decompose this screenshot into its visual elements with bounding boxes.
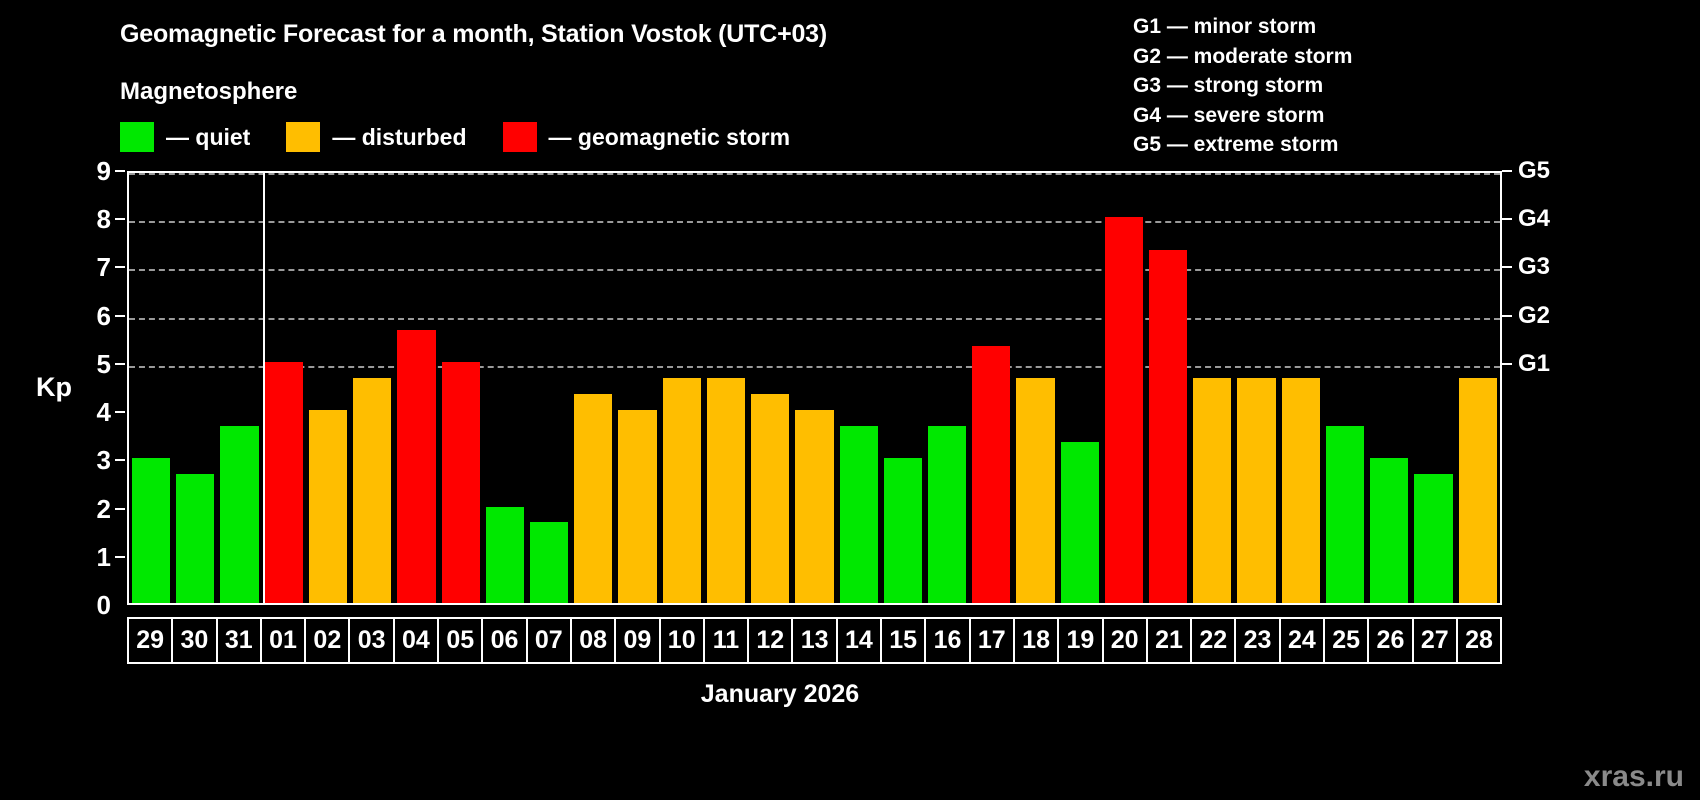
bar-slot-15[interactable]	[881, 173, 925, 603]
bar-19[interactable]	[1061, 442, 1099, 603]
day-label-28[interactable]: 28	[1458, 619, 1500, 662]
bar-06[interactable]	[486, 507, 524, 603]
bar-20[interactable]	[1105, 217, 1143, 603]
y-tick-label-6: 6	[97, 303, 111, 329]
bar-08[interactable]	[574, 394, 612, 603]
legend-swatch-storm	[503, 122, 537, 152]
bar-slot-05[interactable]	[439, 173, 483, 603]
day-label-22[interactable]: 22	[1192, 619, 1236, 662]
g-tick-label-G4: G4	[1518, 207, 1550, 231]
bar-09[interactable]	[618, 410, 656, 603]
day-label-03[interactable]: 03	[350, 619, 394, 662]
g-scale-row-2: G2 — moderate storm	[1133, 42, 1352, 72]
day-label-15[interactable]: 15	[882, 619, 926, 662]
y-tick-mark-2	[115, 508, 125, 510]
bar-12[interactable]	[751, 394, 789, 603]
bar-slot-27[interactable]	[1411, 173, 1455, 603]
day-label-16[interactable]: 16	[926, 619, 970, 662]
bar-17[interactable]	[972, 346, 1010, 603]
g-tick-label-G3: G3	[1518, 255, 1550, 279]
bar-slot-03[interactable]	[350, 173, 394, 603]
bar-slot-18[interactable]	[1013, 173, 1057, 603]
y-axis-title: Kp	[36, 372, 72, 403]
x-axis-day-labels: 2930310102030405060708091011121314151617…	[127, 617, 1502, 664]
g-scale-row-1: G1 — minor storm	[1133, 12, 1352, 42]
day-label-23[interactable]: 23	[1236, 619, 1280, 662]
day-label-21[interactable]: 21	[1148, 619, 1192, 662]
bar-02[interactable]	[309, 410, 347, 603]
bar-slot-06[interactable]	[483, 173, 527, 603]
magnetosphere-label: Magnetosphere	[120, 78, 297, 106]
legend-entry-storm: — geomagnetic storm	[503, 122, 827, 152]
day-label-17[interactable]: 17	[971, 619, 1015, 662]
bar-26[interactable]	[1370, 458, 1408, 603]
day-label-19[interactable]: 19	[1059, 619, 1103, 662]
legend-entry-disturbed: — disturbed	[286, 122, 502, 152]
bar-15[interactable]	[884, 458, 922, 603]
g-tick-mark-G1	[1502, 363, 1512, 365]
bar-29[interactable]	[132, 458, 170, 603]
bar-slot-12[interactable]	[748, 173, 792, 603]
bar-series	[129, 173, 1500, 603]
legend-swatch-disturbed	[286, 122, 320, 152]
day-label-27[interactable]: 27	[1414, 619, 1458, 662]
bar-slot-14[interactable]	[837, 173, 881, 603]
day-label-08[interactable]: 08	[572, 619, 616, 662]
day-label-05[interactable]: 05	[439, 619, 483, 662]
bar-slot-30[interactable]	[173, 173, 217, 603]
day-label-25[interactable]: 25	[1325, 619, 1369, 662]
legend-swatch-quiet	[120, 122, 154, 152]
g-tick-mark-G4	[1502, 218, 1512, 220]
y-tick-mark-5	[115, 363, 125, 365]
bar-30[interactable]	[176, 474, 214, 603]
day-label-07[interactable]: 07	[528, 619, 572, 662]
day-label-01[interactable]: 01	[262, 619, 306, 662]
bar-10[interactable]	[663, 378, 701, 603]
bar-13[interactable]	[795, 410, 833, 603]
y-tick-mark-9	[115, 170, 125, 172]
bar-07[interactable]	[530, 522, 568, 603]
bar-slot-11[interactable]	[704, 173, 748, 603]
y-tick-label-2: 2	[97, 496, 111, 522]
page-title: Geomagnetic Forecast for a month, Statio…	[120, 20, 827, 49]
bar-slot-02[interactable]	[306, 173, 350, 603]
day-label-14[interactable]: 14	[838, 619, 882, 662]
bar-slot-24[interactable]	[1279, 173, 1323, 603]
g-scale-row-5: G5 — extreme storm	[1133, 130, 1352, 160]
day-label-18[interactable]: 18	[1015, 619, 1059, 662]
bar-slot-08[interactable]	[571, 173, 615, 603]
y-tick-label-5: 5	[97, 351, 111, 377]
y-tick-label-3: 3	[97, 447, 111, 473]
y-tick-label-9: 9	[97, 158, 111, 184]
day-label-04[interactable]: 04	[395, 619, 439, 662]
bar-slot-22[interactable]	[1190, 173, 1234, 603]
bar-11[interactable]	[707, 378, 745, 603]
bar-slot-10[interactable]	[660, 173, 704, 603]
y-tick-mark-4	[115, 411, 125, 413]
day-label-29[interactable]: 29	[129, 619, 173, 662]
bar-slot-31[interactable]	[217, 173, 261, 603]
day-label-13[interactable]: 13	[793, 619, 837, 662]
legend-label-storm: — geomagnetic storm	[549, 124, 791, 151]
day-label-12[interactable]: 12	[749, 619, 793, 662]
bar-05[interactable]	[442, 362, 480, 603]
legend-label-quiet: — quiet	[166, 124, 250, 151]
y-tick-mark-3	[115, 459, 125, 461]
g-scale-legend: G1 — minor stormG2 — moderate stormG3 — …	[1133, 12, 1352, 160]
bar-21[interactable]	[1149, 250, 1187, 603]
bar-slot-19[interactable]	[1058, 173, 1102, 603]
g-axis-ticks: G1G2G3G4G5	[1502, 171, 1592, 605]
day-label-24[interactable]: 24	[1281, 619, 1325, 662]
x-axis-title: January 2026	[0, 680, 1560, 709]
bar-28[interactable]	[1459, 378, 1497, 603]
magnetosphere-legend: — quiet— disturbed— geomagnetic storm	[120, 122, 826, 152]
g-scale-row-4: G4 — severe storm	[1133, 101, 1352, 131]
bar-slot-16[interactable]	[925, 173, 969, 603]
y-tick-mark-7	[115, 266, 125, 268]
g-scale-row-3: G3 — strong storm	[1133, 71, 1352, 101]
bar-slot-17[interactable]	[969, 173, 1013, 603]
g-tick-label-G2: G2	[1518, 304, 1550, 328]
bar-slot-09[interactable]	[615, 173, 659, 603]
bar-slot-29[interactable]	[129, 173, 173, 603]
plot-area	[127, 171, 1502, 605]
bar-slot-21[interactable]	[1146, 173, 1190, 603]
y-tick-mark-8	[115, 218, 125, 220]
bar-01[interactable]	[265, 362, 303, 603]
day-label-06[interactable]: 06	[483, 619, 527, 662]
day-label-30[interactable]: 30	[173, 619, 217, 662]
bar-slot-26[interactable]	[1367, 173, 1411, 603]
y-axis-ticks: 0123456789	[78, 171, 125, 605]
bar-18[interactable]	[1016, 378, 1054, 603]
bar-27[interactable]	[1414, 474, 1452, 603]
bar-slot-04[interactable]	[394, 173, 438, 603]
g-tick-mark-G5	[1502, 170, 1512, 172]
day-label-26[interactable]: 26	[1369, 619, 1413, 662]
bar-03[interactable]	[353, 378, 391, 603]
day-label-10[interactable]: 10	[661, 619, 705, 662]
g-tick-mark-G2	[1502, 315, 1512, 317]
bar-slot-13[interactable]	[792, 173, 836, 603]
day-label-11[interactable]: 11	[705, 619, 749, 662]
legend-entry-quiet: — quiet	[120, 122, 286, 152]
y-tick-label-7: 7	[97, 254, 111, 280]
g-tick-mark-G3	[1502, 266, 1512, 268]
bar-slot-01[interactable]	[262, 173, 306, 603]
bar-04[interactable]	[397, 330, 435, 603]
bar-23[interactable]	[1237, 378, 1275, 603]
y-tick-mark-1	[115, 556, 125, 558]
y-tick-mark-6	[115, 315, 125, 317]
bar-16[interactable]	[928, 426, 966, 603]
day-label-02[interactable]: 02	[306, 619, 350, 662]
g-tick-label-G1: G1	[1518, 352, 1550, 376]
y-tick-label-8: 8	[97, 206, 111, 232]
bar-slot-25[interactable]	[1323, 173, 1367, 603]
y-tick-label-1: 1	[97, 544, 111, 570]
day-label-20[interactable]: 20	[1104, 619, 1148, 662]
legend-label-disturbed: — disturbed	[332, 124, 466, 151]
watermark: xras.ru	[1584, 760, 1684, 794]
day-label-09[interactable]: 09	[616, 619, 660, 662]
bar-slot-20[interactable]	[1102, 173, 1146, 603]
bar-25[interactable]	[1326, 426, 1364, 603]
day-label-31[interactable]: 31	[218, 619, 262, 662]
bar-slot-07[interactable]	[527, 173, 571, 603]
bar-24[interactable]	[1282, 378, 1320, 603]
g-tick-label-G5: G5	[1518, 159, 1550, 183]
y-tick-label-4: 4	[97, 399, 111, 425]
y-tick-label-0: 0	[97, 592, 111, 618]
bar-slot-23[interactable]	[1234, 173, 1278, 603]
bar-slot-28[interactable]	[1456, 173, 1500, 603]
bar-22[interactable]	[1193, 378, 1231, 603]
bar-14[interactable]	[840, 426, 878, 603]
bar-31[interactable]	[220, 426, 258, 603]
